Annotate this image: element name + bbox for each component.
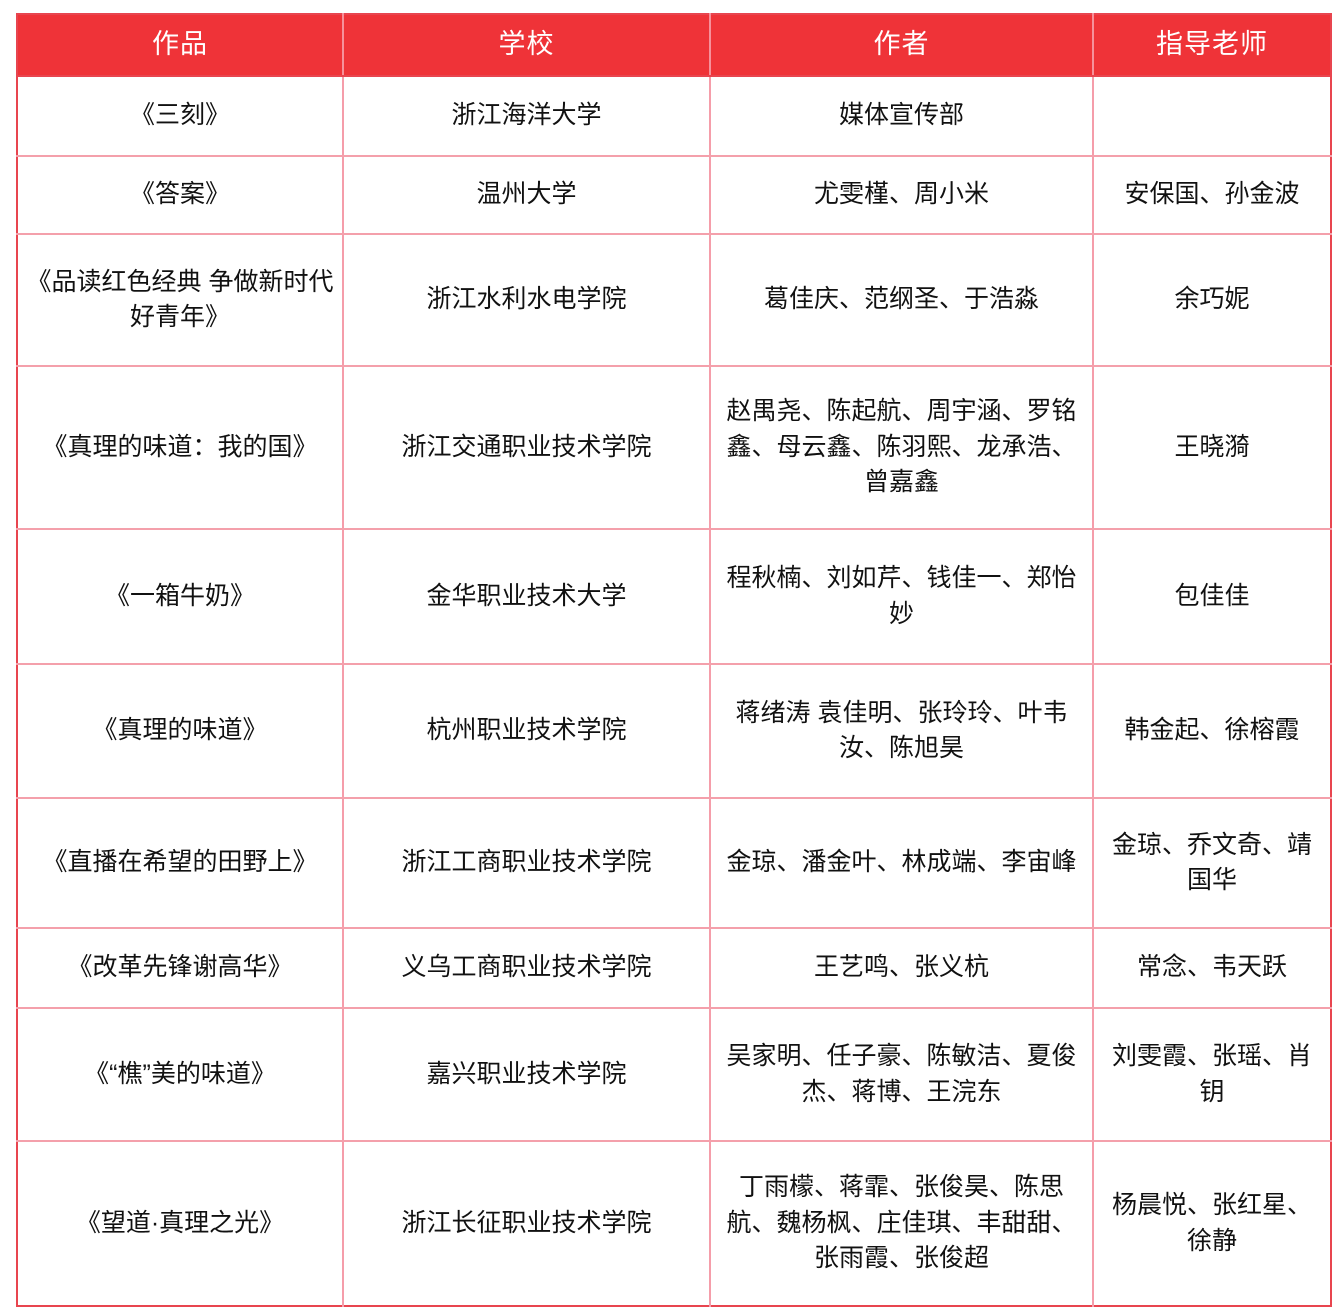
cell-work: 《答案》 <box>17 156 343 234</box>
cell-work: 《三刻》 <box>17 76 343 156</box>
cell-work: 《真理的味道》 <box>17 664 343 798</box>
table-row: 《品读红色经典 争做新时代好青年》 浙江水利水电学院 葛佳庆、范纲圣、于浩淼 余… <box>17 234 1331 366</box>
table-row: 《真理的味道》 杭州职业技术学院 蒋绪涛 袁佳明、张玲玲、叶韦汝、陈旭昊 韩金起… <box>17 664 1331 798</box>
cell-school: 浙江工商职业技术学院 <box>343 798 710 928</box>
cell-school: 温州大学 <box>343 156 710 234</box>
cell-work: 《品读红色经典 争做新时代好青年》 <box>17 234 343 366</box>
cell-mentor: 王晓漪 <box>1093 366 1331 529</box>
cell-school: 杭州职业技术学院 <box>343 664 710 798</box>
table-header: 作品 学校 作者 指导老师 <box>17 14 1331 76</box>
cell-work: 《改革先锋谢高华》 <box>17 928 343 1008</box>
table-row: 《“樵”美的味道》 嘉兴职业技术学院 吴家明、任子豪、陈敏洁、夏俊杰、蒋博、王浣… <box>17 1008 1331 1141</box>
cell-school: 嘉兴职业技术学院 <box>343 1008 710 1141</box>
cell-author: 蒋绪涛 袁佳明、张玲玲、叶韦汝、陈旭昊 <box>710 664 1093 798</box>
column-header-work: 作品 <box>17 14 343 76</box>
cell-author: 吴家明、任子豪、陈敏洁、夏俊杰、蒋博、王浣东 <box>710 1008 1093 1141</box>
cell-work: 《直播在希望的田野上》 <box>17 798 343 928</box>
cell-author: 赵禺尧、陈起航、周宇涵、罗铭鑫、母云鑫、陈羽熙、龙承浩、曾嘉鑫 <box>710 366 1093 529</box>
award-table-container: 作品 学校 作者 指导老师 《三刻》 浙江海洋大学 媒体宣传部 《答案》 温州大… <box>16 13 1330 1307</box>
award-table: 作品 学校 作者 指导老师 《三刻》 浙江海洋大学 媒体宣传部 《答案》 温州大… <box>16 13 1332 1307</box>
cell-author: 尤雯槿、周小米 <box>710 156 1093 234</box>
cell-school: 金华职业技术大学 <box>343 529 710 664</box>
column-header-mentor: 指导老师 <box>1093 14 1331 76</box>
table-row: 《三刻》 浙江海洋大学 媒体宣传部 <box>17 76 1331 156</box>
cell-work: 《真理的味道：我的国》 <box>17 366 343 529</box>
cell-author: 葛佳庆、范纲圣、于浩淼 <box>710 234 1093 366</box>
table-row: 《真理的味道：我的国》 浙江交通职业技术学院 赵禺尧、陈起航、周宇涵、罗铭鑫、母… <box>17 366 1331 529</box>
cell-school: 浙江水利水电学院 <box>343 234 710 366</box>
table-row: 《改革先锋谢高华》 义乌工商职业技术学院 王艺鸣、张义杭 常念、韦天跃 <box>17 928 1331 1008</box>
cell-school: 浙江海洋大学 <box>343 76 710 156</box>
table-row: 《望道·真理之光》 浙江长征职业技术学院 丁雨檬、蒋霏、张俊昊、陈思航、魏杨枫、… <box>17 1141 1331 1306</box>
column-header-author: 作者 <box>710 14 1093 76</box>
cell-mentor: 常念、韦天跃 <box>1093 928 1331 1008</box>
cell-author: 金琼、潘金叶、林成端、李宙峰 <box>710 798 1093 928</box>
cell-school: 浙江长征职业技术学院 <box>343 1141 710 1306</box>
cell-mentor: 安保国、孙金波 <box>1093 156 1331 234</box>
table-row: 《答案》 温州大学 尤雯槿、周小米 安保国、孙金波 <box>17 156 1331 234</box>
cell-mentor: 余巧妮 <box>1093 234 1331 366</box>
header-row: 作品 学校 作者 指导老师 <box>17 14 1331 76</box>
table-row: 《一箱牛奶》 金华职业技术大学 程秋楠、刘如芹、钱佳一、郑怡妙 包佳佳 <box>17 529 1331 664</box>
cell-author: 媒体宣传部 <box>710 76 1093 156</box>
table-body: 《三刻》 浙江海洋大学 媒体宣传部 《答案》 温州大学 尤雯槿、周小米 安保国、… <box>17 76 1331 1306</box>
cell-mentor: 刘雯霞、张瑶、肖钥 <box>1093 1008 1331 1141</box>
cell-mentor: 韩金起、徐榕霞 <box>1093 664 1331 798</box>
cell-author: 王艺鸣、张义杭 <box>710 928 1093 1008</box>
cell-work: 《“樵”美的味道》 <box>17 1008 343 1141</box>
cell-author: 丁雨檬、蒋霏、张俊昊、陈思航、魏杨枫、庄佳琪、丰甜甜、张雨霞、张俊超 <box>710 1141 1093 1306</box>
cell-mentor: 包佳佳 <box>1093 529 1331 664</box>
column-header-school: 学校 <box>343 14 710 76</box>
cell-mentor: 杨晨悦、张红星、徐静 <box>1093 1141 1331 1306</box>
cell-school: 浙江交通职业技术学院 <box>343 366 710 529</box>
cell-school: 义乌工商职业技术学院 <box>343 928 710 1008</box>
cell-mentor: 金琼、乔文奇、靖国华 <box>1093 798 1331 928</box>
cell-mentor <box>1093 76 1331 156</box>
cell-author: 程秋楠、刘如芹、钱佳一、郑怡妙 <box>710 529 1093 664</box>
cell-work: 《一箱牛奶》 <box>17 529 343 664</box>
table-row: 《直播在希望的田野上》 浙江工商职业技术学院 金琼、潘金叶、林成端、李宙峰 金琼… <box>17 798 1331 928</box>
cell-work: 《望道·真理之光》 <box>17 1141 343 1306</box>
